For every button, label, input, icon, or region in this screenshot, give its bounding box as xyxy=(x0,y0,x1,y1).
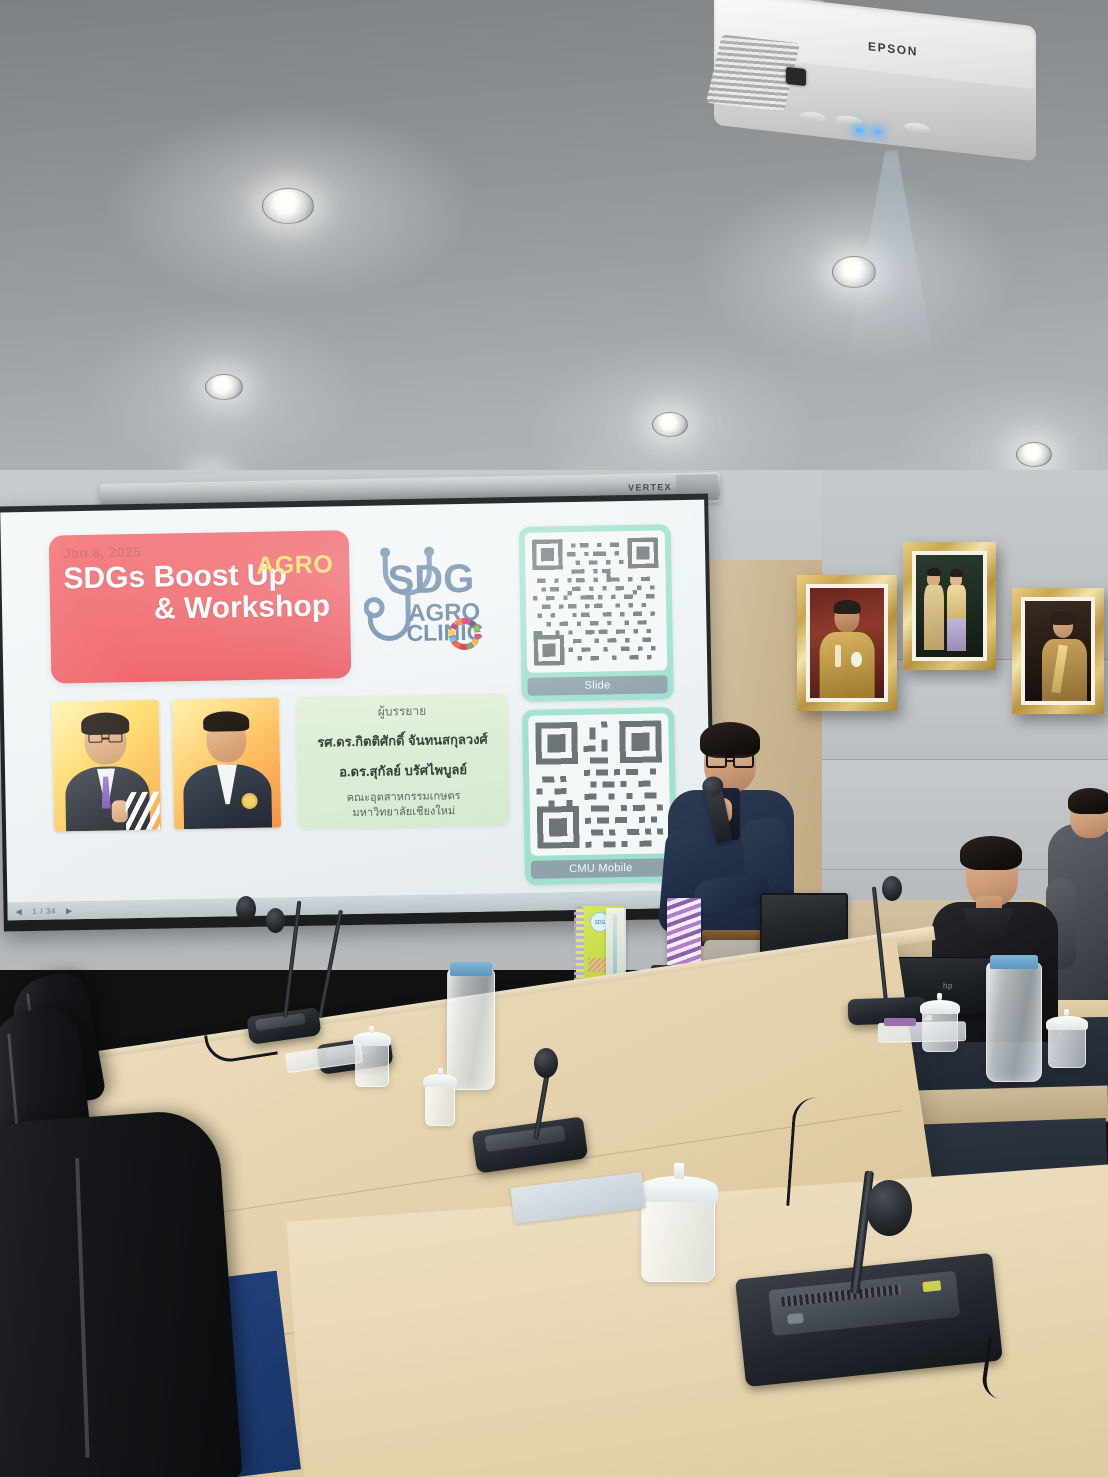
screen-surface: Jan 8, 2025 AGRO SDGs Boost Up & Worksho… xyxy=(0,500,711,921)
glass-lid-2 xyxy=(423,1074,457,1087)
portrait-art xyxy=(1025,601,1091,701)
mic-capsule-1 xyxy=(236,896,256,922)
portrait-mat xyxy=(1021,597,1095,705)
presenter-hair xyxy=(700,722,760,758)
roller-brand-label: VERTEX xyxy=(628,482,672,493)
glass-lid-3 xyxy=(638,1176,718,1202)
mic-cable-foreground xyxy=(980,1337,1038,1403)
slide-prev-arrow[interactable]: ◀ xyxy=(16,907,23,916)
drinking-glass-3 xyxy=(641,1196,715,1282)
glass-knob-1 xyxy=(369,1026,374,1033)
downlight-5 xyxy=(1016,442,1052,467)
standing-person-hair xyxy=(1068,788,1108,814)
mic-capsule-3 xyxy=(534,1048,558,1078)
speaker-name-2: อ.ดร.สุกัลย์ บรัศไพบูลย์ xyxy=(339,759,467,782)
drinking-glass-5 xyxy=(1048,1026,1086,1068)
projector-lens-icon xyxy=(786,67,806,86)
portrait-art xyxy=(810,588,884,698)
chair-seam xyxy=(75,1158,89,1458)
glass-knob-3 xyxy=(674,1163,684,1179)
stethoscope-sdg-logo-icon: SDG AGRO CLINIC xyxy=(363,531,505,664)
slide-counter: 1 / 34 xyxy=(32,906,56,915)
attendee-hair xyxy=(960,836,1022,870)
pen-icon xyxy=(613,914,617,974)
royal-portrait-queen xyxy=(1012,588,1104,714)
downlight-1 xyxy=(262,188,314,224)
portrait-mat xyxy=(806,584,888,702)
speakers-panel: ผู้บรรยาย รศ.ดร.กิตติศักดิ์ จันทนสกุลวงศ… xyxy=(296,693,510,829)
laptop-brand-label: hp xyxy=(943,982,953,991)
pen-package[interactable] xyxy=(606,908,626,982)
glass-knob-5 xyxy=(1064,1009,1069,1016)
mic-capsule-2 xyxy=(266,908,285,933)
speaker2-hair xyxy=(203,711,249,732)
downlight-4 xyxy=(652,412,688,437)
affiliation-line1: คณะอุตสาหกรรมเกษตร xyxy=(347,790,461,804)
projection-screen: Jan 8, 2025 AGRO SDGs Boost Up & Worksho… xyxy=(0,494,716,932)
sdg-agro-clinic-logo: SDG AGRO CLINIC xyxy=(363,531,505,664)
affiliation-line2: มหาวิทยาลัยเชียงใหม่ xyxy=(352,805,455,819)
projector-led-2 xyxy=(874,130,881,135)
bottle-cap-2 xyxy=(990,955,1038,969)
mic-capsule-foreground xyxy=(866,1180,912,1236)
qr-label-slide: Slide xyxy=(527,675,667,696)
mic-capsule-right xyxy=(882,876,902,901)
slide-title-line1: SDGs Boost Up xyxy=(63,558,287,595)
drinking-glass-2 xyxy=(425,1084,455,1126)
speakers-heading: ผู้บรรยาย xyxy=(378,702,427,722)
mic-unit-plate xyxy=(484,1125,565,1152)
qr-code-icon xyxy=(532,537,660,665)
qr-code-icon xyxy=(535,720,663,848)
speaker1-glasses-icon xyxy=(88,733,122,743)
slide-title-line2: & Workshop xyxy=(64,590,337,627)
mic-unit-indicator xyxy=(922,1280,941,1292)
mic-cable-2 xyxy=(786,1096,854,1210)
bottle-cap-1 xyxy=(450,962,492,976)
presenter-glasses-icon xyxy=(706,754,754,768)
slide-eyebrow-agro: AGRO xyxy=(256,550,334,580)
speaker1-hair xyxy=(81,712,129,735)
qr-inner-slide xyxy=(525,530,668,673)
water-bottle-1 xyxy=(447,968,495,1090)
speakers-affiliation: คณะอุตสาหกรรมเกษตร มหาวิทยาลัยเชียงใหม่ xyxy=(347,789,461,821)
glass-lid-4 xyxy=(920,1000,960,1014)
downlight-3 xyxy=(205,374,243,400)
qr-label-cmu-mobile: CMU Mobile xyxy=(531,858,671,879)
glass-lid-5 xyxy=(1046,1016,1088,1030)
speaker-name-1: รศ.ดร.กิตติศักดิ์ จันทนสกุลวงศ์ xyxy=(317,729,488,753)
portrait-art xyxy=(916,555,983,657)
qr-card-cmu-mobile[interactable]: CMU Mobile xyxy=(522,707,677,885)
royal-portrait-royal-couple xyxy=(903,542,996,670)
qr-code-column: Slide xyxy=(519,524,678,893)
tray-item-purple xyxy=(884,1018,916,1026)
speaker-portrait-1 xyxy=(52,700,161,832)
slide-next-arrow[interactable]: ▶ xyxy=(66,906,73,915)
mic-unit-button[interactable] xyxy=(787,1313,804,1325)
qr-inner-cmu xyxy=(528,713,671,856)
notebook-spiral-binding xyxy=(574,906,584,984)
speaker1-stripe-decor xyxy=(125,792,160,831)
portrait-mat xyxy=(912,551,987,661)
conference-room-photo: EPSON xyxy=(0,0,1108,1477)
glass-knob-4 xyxy=(937,993,942,1000)
royal-portrait-king xyxy=(797,575,897,711)
projector-led-1 xyxy=(856,128,863,133)
presentation-slide: Jan 8, 2025 AGRO SDGs Boost Up & Worksho… xyxy=(30,512,687,899)
ceiling-projector: EPSON xyxy=(708,8,1040,160)
glass-knob-2 xyxy=(438,1068,443,1075)
speaker-portrait-2 xyxy=(172,697,281,829)
slide-title-card: Jan 8, 2025 AGRO SDGs Boost Up & Worksho… xyxy=(49,530,352,683)
logo-text-sdg: SDG xyxy=(387,557,474,603)
water-bottle-2 xyxy=(986,962,1042,1082)
chair-foreground[interactable] xyxy=(0,1108,243,1477)
qr-card-slide[interactable]: Slide xyxy=(519,524,674,702)
